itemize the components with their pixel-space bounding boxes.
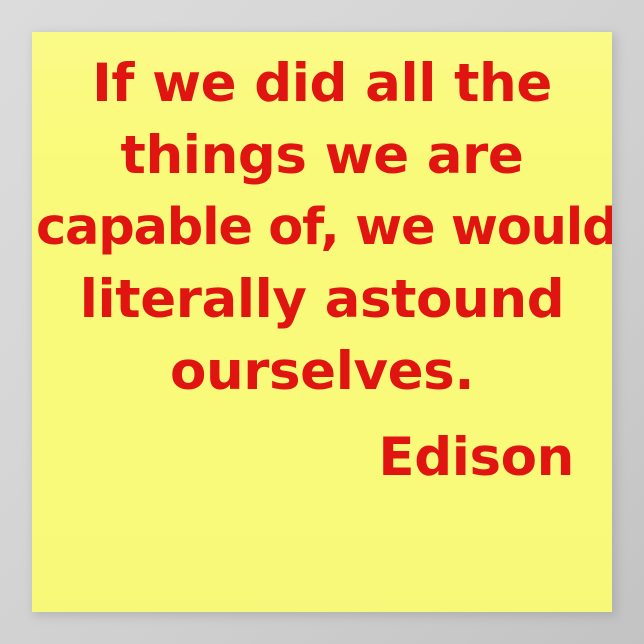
attribution-row: Edison	[36, 422, 608, 494]
quote-text-block: If we did all the things we are capable …	[32, 48, 612, 494]
quote-line-2: things we are	[36, 120, 608, 192]
quote-line-3: capable of, we would	[36, 192, 608, 264]
attribution-author: Edison	[378, 427, 574, 488]
poster-canvas: If we did all the things we are capable …	[0, 0, 644, 644]
quote-line-4: literally astound	[36, 264, 608, 336]
quote-line-5: ourselves.	[36, 336, 608, 408]
poster-sheet: If we did all the things we are capable …	[32, 32, 612, 612]
quote-line-1: If we did all the	[36, 48, 608, 120]
